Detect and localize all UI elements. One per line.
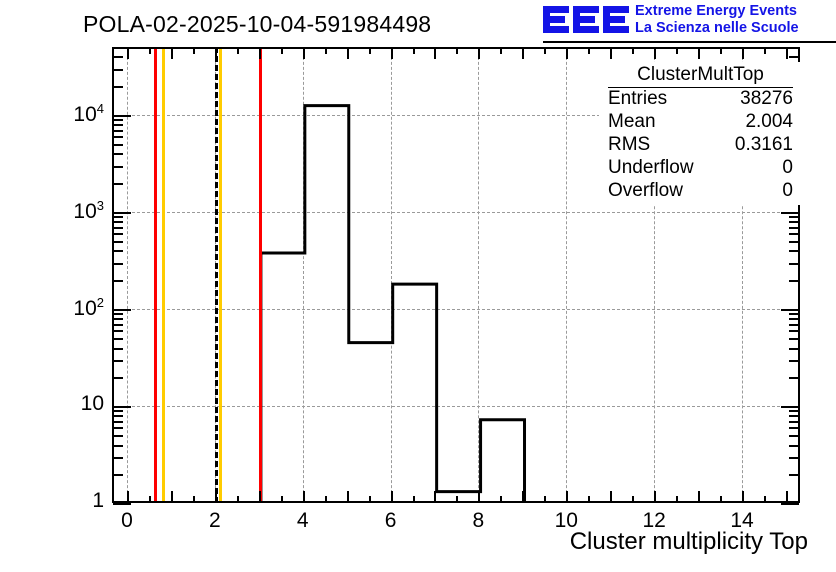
- y-minor-tick: [113, 410, 123, 412]
- y-minor-tick: [113, 124, 123, 126]
- x-major-tick: [127, 491, 129, 502]
- stats-label-overflow: Overflow: [608, 179, 683, 202]
- y-right-minor-tick: [789, 313, 799, 315]
- x-minor-tick: [193, 496, 195, 502]
- y-tick-label: 10: [16, 392, 104, 416]
- y-major-tick: [113, 406, 131, 408]
- y-right-minor-tick: [789, 421, 799, 423]
- y-right-minor-tick: [789, 445, 799, 447]
- eee-logo: Extreme Energy Events La Scienza nelle S…: [543, 2, 833, 40]
- y-major-tick: [113, 309, 131, 311]
- x-minor-tick: [237, 496, 239, 502]
- y-right-minor-tick: [789, 410, 799, 412]
- y-right-minor-tick: [789, 233, 799, 235]
- y-right-major-tick: [781, 309, 799, 311]
- y-right-minor-tick: [789, 318, 799, 320]
- y-minor-tick: [113, 183, 123, 185]
- y-right-minor-tick: [789, 47, 799, 49]
- x-major-tick: [303, 491, 305, 502]
- x-minor-tick: [676, 496, 678, 502]
- y-minor-tick: [113, 86, 123, 88]
- y-minor-tick: [113, 136, 123, 138]
- stats-label-mean: Mean: [608, 110, 656, 133]
- x-top-tick: [434, 48, 436, 59]
- x-major-tick: [215, 491, 217, 502]
- x-top-tick: [325, 48, 327, 54]
- x-top-tick: [588, 48, 590, 54]
- x-top-tick: [391, 48, 393, 59]
- y-tick-label: 1: [16, 489, 104, 513]
- y-minor-tick: [113, 435, 123, 437]
- y-right-minor-tick: [789, 415, 799, 417]
- x-tick-label: 4: [273, 509, 333, 533]
- x-major-tick: [566, 491, 568, 502]
- y-right-minor-tick: [789, 216, 799, 218]
- x-minor-tick: [413, 496, 415, 502]
- x-top-tick: [193, 48, 195, 54]
- y-minor-tick: [113, 360, 123, 362]
- y-major-tick: [113, 212, 131, 214]
- y-right-minor-tick: [789, 241, 799, 243]
- x-minor-tick: [325, 496, 327, 502]
- y-minor-tick: [113, 324, 123, 326]
- y-right-minor-tick: [789, 474, 799, 476]
- y-minor-tick: [113, 280, 123, 282]
- x-tick-label: 6: [361, 509, 421, 533]
- y-minor-tick: [113, 69, 123, 71]
- x-top-tick: [764, 48, 766, 54]
- x-minor-tick: [632, 496, 634, 502]
- y-minor-tick: [113, 415, 123, 417]
- x-major-tick: [742, 491, 744, 502]
- y-right-minor-tick: [789, 324, 799, 326]
- x-tick-label: 2: [185, 509, 245, 533]
- stats-box-title: ClusterMultTop: [600, 63, 801, 86]
- y-minor-tick: [113, 119, 123, 121]
- x-top-tick: [127, 48, 129, 59]
- x-major-tick: [610, 491, 612, 502]
- x-top-tick: [456, 48, 458, 54]
- y-right-minor-tick: [789, 360, 799, 362]
- x-top-tick: [281, 48, 283, 54]
- x-major-tick: [786, 491, 788, 502]
- y-right-minor-tick: [789, 250, 799, 252]
- y-minor-tick: [113, 330, 123, 332]
- x-top-tick: [544, 48, 546, 54]
- stats-row-entries: Entries 38276: [608, 87, 793, 110]
- x-major-tick: [391, 491, 393, 502]
- y-minor-tick: [113, 250, 123, 252]
- x-top-tick: [369, 48, 371, 54]
- x-minor-tick: [588, 496, 590, 502]
- root-canvas: POLA-02-2025-10-04-591984498 Extreme Ene…: [0, 0, 836, 572]
- y-minor-tick: [113, 241, 123, 243]
- stats-value-underflow: 0: [782, 156, 793, 179]
- x-top-tick: [413, 48, 415, 54]
- x-minor-tick: [544, 496, 546, 502]
- y-minor-tick: [113, 144, 123, 146]
- y-right-major-tick: [781, 212, 799, 214]
- y-minor-tick: [113, 130, 123, 132]
- y-minor-tick: [113, 338, 123, 340]
- stats-value-rms: 0.3161: [735, 133, 793, 156]
- stats-row-underflow: Underflow 0: [608, 156, 793, 179]
- x-minor-tick: [369, 496, 371, 502]
- x-minor-tick: [281, 496, 283, 502]
- stats-label-rms: RMS: [608, 133, 650, 156]
- x-minor-tick: [764, 496, 766, 502]
- stats-value-overflow: 0: [782, 179, 793, 202]
- y-right-major-tick: [781, 503, 799, 505]
- y-minor-tick: [113, 348, 123, 350]
- y-right-minor-tick: [789, 221, 799, 223]
- y-minor-tick: [113, 445, 123, 447]
- x-major-tick: [654, 491, 656, 502]
- y-right-minor-tick: [789, 348, 799, 350]
- x-top-tick: [237, 48, 239, 54]
- y-minor-tick: [113, 166, 123, 168]
- x-top-tick: [610, 48, 612, 59]
- y-right-minor-tick: [789, 377, 799, 379]
- stats-label-entries: Entries: [608, 87, 667, 110]
- y-right-minor-tick: [789, 330, 799, 332]
- x-top-tick: [654, 48, 656, 59]
- y-minor-tick: [113, 227, 123, 229]
- x-top-tick: [786, 48, 788, 59]
- x-top-tick: [566, 48, 568, 59]
- y-minor-tick: [113, 153, 123, 155]
- x-top-tick: [742, 48, 744, 59]
- x-major-tick: [259, 491, 261, 502]
- y-minor-tick: [113, 457, 123, 459]
- x-minor-tick: [456, 496, 458, 502]
- x-top-tick: [347, 48, 349, 59]
- y-minor-tick: [113, 221, 123, 223]
- y-minor-tick: [113, 56, 123, 58]
- x-top-tick: [149, 48, 151, 54]
- y-right-minor-tick: [789, 338, 799, 340]
- x-major-tick: [434, 491, 436, 502]
- eee-logo-line1: Extreme Energy Events: [635, 3, 797, 19]
- stats-box: ClusterMultTop Entries 38276 Mean 2.004 …: [599, 62, 800, 205]
- y-major-tick: [113, 503, 131, 505]
- y-right-minor-tick: [789, 56, 799, 58]
- y-right-major-tick: [781, 406, 799, 408]
- x-minor-tick: [149, 496, 151, 502]
- y-minor-tick: [113, 474, 123, 476]
- y-minor-tick: [113, 421, 123, 423]
- y-right-minor-tick: [789, 263, 799, 265]
- logo-underline: [543, 41, 836, 43]
- eee-logo-mark: [543, 2, 629, 36]
- y-minor-tick: [113, 427, 123, 429]
- y-minor-tick: [113, 216, 123, 218]
- x-top-tick: [522, 48, 524, 59]
- stats-label-underflow: Underflow: [608, 156, 694, 179]
- y-minor-tick: [113, 233, 123, 235]
- stats-value-mean: 2.004: [745, 110, 793, 133]
- y-minor-tick: [113, 47, 123, 49]
- y-right-minor-tick: [789, 457, 799, 459]
- x-top-tick: [259, 48, 261, 59]
- x-major-tick: [698, 491, 700, 502]
- y-minor-tick: [113, 318, 123, 320]
- x-major-tick: [347, 491, 349, 502]
- x-top-tick: [171, 48, 173, 59]
- x-minor-tick: [500, 496, 502, 502]
- y-right-minor-tick: [789, 280, 799, 282]
- page-title: POLA-02-2025-10-04-591984498: [83, 11, 431, 38]
- x-major-tick: [171, 491, 173, 502]
- x-minor-tick: [720, 496, 722, 502]
- stats-row-overflow: Overflow 0: [608, 179, 793, 202]
- y-tick-label: 102: [16, 295, 104, 321]
- y-minor-tick: [113, 313, 123, 315]
- x-top-tick: [215, 48, 217, 59]
- x-major-tick: [478, 491, 480, 502]
- x-top-tick: [676, 48, 678, 54]
- y-tick-label: 104: [16, 101, 104, 127]
- x-top-tick: [500, 48, 502, 54]
- x-top-tick: [720, 48, 722, 54]
- y-minor-tick: [113, 263, 123, 265]
- stats-row-rms: RMS 0.3161: [608, 133, 793, 156]
- x-tick-label: 8: [448, 509, 508, 533]
- x-top-tick: [303, 48, 305, 59]
- x-top-tick: [478, 48, 480, 59]
- y-right-minor-tick: [789, 227, 799, 229]
- y-right-minor-tick: [789, 435, 799, 437]
- stats-row-mean: Mean 2.004: [608, 110, 793, 133]
- y-right-minor-tick: [789, 427, 799, 429]
- y-tick-label: 103: [16, 198, 104, 224]
- x-top-tick: [632, 48, 634, 54]
- eee-logo-line2: La Scienza nelle Scuole: [635, 20, 799, 36]
- x-axis-title: Cluster multiplicity Top: [570, 528, 808, 556]
- y-major-tick: [113, 115, 131, 117]
- x-top-tick: [698, 48, 700, 59]
- x-major-tick: [522, 491, 524, 502]
- stats-value-entries: 38276: [740, 87, 793, 110]
- x-tick-label: 0: [97, 509, 157, 533]
- y-minor-tick: [113, 377, 123, 379]
